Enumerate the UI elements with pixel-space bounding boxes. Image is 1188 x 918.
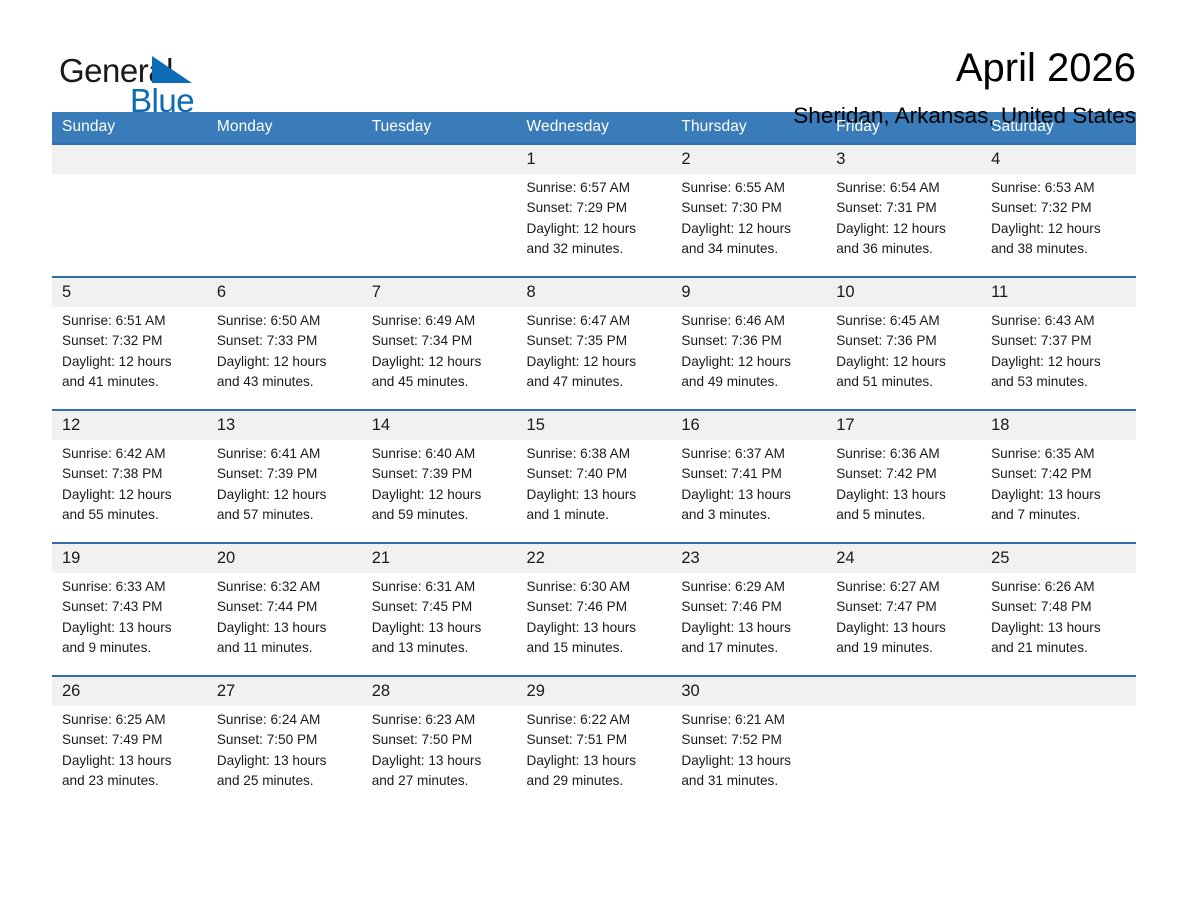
day-cell[interactable]: Sunrise: 6:47 AMSunset: 7:35 PMDaylight:… [517,307,672,410]
day-cell[interactable]: Sunrise: 6:26 AMSunset: 7:48 PMDaylight:… [981,573,1136,676]
day-cell[interactable]: Sunrise: 6:41 AMSunset: 7:39 PMDaylight:… [207,440,362,543]
day-number[interactable]: 7 [362,277,517,307]
sunrise-text: Sunrise: 6:30 AM [527,577,664,597]
daylight-text-line1: Daylight: 12 hours [681,219,818,239]
day-cell[interactable]: Sunrise: 6:45 AMSunset: 7:36 PMDaylight:… [826,307,981,410]
sunrise-text: Sunrise: 6:37 AM [681,444,818,464]
day-number[interactable]: 23 [671,543,826,573]
day-number-empty [826,676,981,706]
calendar-week-details: Sunrise: 6:33 AMSunset: 7:43 PMDaylight:… [52,573,1136,676]
daylight-text-line1: Daylight: 13 hours [681,751,818,771]
sunset-text: Sunset: 7:43 PM [62,597,199,617]
sunrise-text: Sunrise: 6:49 AM [372,311,509,331]
day-number[interactable]: 15 [517,410,672,440]
calendar-week-daynumbers: 567891011 [52,277,1136,307]
calendar-table: Sunday Monday Tuesday Wednesday Thursday… [52,112,1136,808]
daylight-text-line2: and 3 minutes. [681,505,818,525]
calendar-page: General Blue April 2026 Sheridan, Arkans… [0,0,1188,918]
day-cell[interactable]: Sunrise: 6:46 AMSunset: 7:36 PMDaylight:… [671,307,826,410]
daylight-text-line1: Daylight: 13 hours [372,618,509,638]
day-cell-empty [52,174,207,277]
sunset-text: Sunset: 7:31 PM [836,198,973,218]
daylight-text-line2: and 59 minutes. [372,505,509,525]
sunset-text: Sunset: 7:44 PM [217,597,354,617]
daylight-text-line1: Daylight: 13 hours [836,485,973,505]
daylight-text-line1: Daylight: 12 hours [217,485,354,505]
sunset-text: Sunset: 7:39 PM [372,464,509,484]
sunset-text: Sunset: 7:40 PM [527,464,664,484]
calendar-week-details: Sunrise: 6:51 AMSunset: 7:32 PMDaylight:… [52,307,1136,410]
day-cell[interactable]: Sunrise: 6:37 AMSunset: 7:41 PMDaylight:… [671,440,826,543]
sunrise-text: Sunrise: 6:41 AM [217,444,354,464]
sunset-text: Sunset: 7:42 PM [991,464,1128,484]
day-cell[interactable]: Sunrise: 6:25 AMSunset: 7:49 PMDaylight:… [52,706,207,808]
daylight-text-line2: and 11 minutes. [217,638,354,658]
sunrise-text: Sunrise: 6:24 AM [217,710,354,730]
daylight-text-line1: Daylight: 12 hours [372,485,509,505]
day-cell[interactable]: Sunrise: 6:43 AMSunset: 7:37 PMDaylight:… [981,307,1136,410]
sunset-text: Sunset: 7:42 PM [836,464,973,484]
day-number[interactable]: 25 [981,543,1136,573]
daylight-text-line1: Daylight: 13 hours [527,618,664,638]
day-number[interactable]: 21 [362,543,517,573]
day-number[interactable]: 14 [362,410,517,440]
sunset-text: Sunset: 7:51 PM [527,730,664,750]
sunset-text: Sunset: 7:41 PM [681,464,818,484]
daylight-text-line2: and 31 minutes. [681,771,818,791]
sunrise-text: Sunrise: 6:31 AM [372,577,509,597]
page-title: April 2026 [793,46,1136,91]
sunrise-text: Sunrise: 6:42 AM [62,444,199,464]
day-cell[interactable]: Sunrise: 6:23 AMSunset: 7:50 PMDaylight:… [362,706,517,808]
day-number-empty [52,144,207,174]
sunrise-text: Sunrise: 6:47 AM [527,311,664,331]
daylight-text-line1: Daylight: 13 hours [527,485,664,505]
day-cell[interactable]: Sunrise: 6:36 AMSunset: 7:42 PMDaylight:… [826,440,981,543]
day-cell[interactable]: Sunrise: 6:35 AMSunset: 7:42 PMDaylight:… [981,440,1136,543]
day-cell[interactable]: Sunrise: 6:40 AMSunset: 7:39 PMDaylight:… [362,440,517,543]
daylight-text-line1: Daylight: 12 hours [217,352,354,372]
day-number[interactable]: 5 [52,277,207,307]
day-cell-empty [207,174,362,277]
daylight-text-line1: Daylight: 12 hours [62,485,199,505]
weekday-header-wednesday: Wednesday [517,112,672,144]
daylight-text-line2: and 7 minutes. [991,505,1128,525]
sunrise-text: Sunrise: 6:36 AM [836,444,973,464]
day-cell[interactable]: Sunrise: 6:32 AMSunset: 7:44 PMDaylight:… [207,573,362,676]
day-cell[interactable]: Sunrise: 6:49 AMSunset: 7:34 PMDaylight:… [362,307,517,410]
daylight-text-line1: Daylight: 13 hours [527,751,664,771]
day-cell[interactable]: Sunrise: 6:24 AMSunset: 7:50 PMDaylight:… [207,706,362,808]
sunset-text: Sunset: 7:36 PM [681,331,818,351]
sunrise-text: Sunrise: 6:33 AM [62,577,199,597]
sunset-text: Sunset: 7:33 PM [217,331,354,351]
day-cell[interactable]: Sunrise: 6:30 AMSunset: 7:46 PMDaylight:… [517,573,672,676]
day-number[interactable]: 9 [671,277,826,307]
day-cell[interactable]: Sunrise: 6:50 AMSunset: 7:33 PMDaylight:… [207,307,362,410]
sunrise-text: Sunrise: 6:38 AM [527,444,664,464]
sunset-text: Sunset: 7:50 PM [217,730,354,750]
day-cell[interactable]: Sunrise: 6:29 AMSunset: 7:46 PMDaylight:… [671,573,826,676]
daylight-text-line2: and 43 minutes. [217,372,354,392]
sunrise-text: Sunrise: 6:29 AM [681,577,818,597]
day-number[interactable]: 20 [207,543,362,573]
day-cell[interactable]: Sunrise: 6:53 AMSunset: 7:32 PMDaylight:… [981,174,1136,277]
calendar-week-daynumbers: 1234 [52,144,1136,174]
daylight-text-line2: and 9 minutes. [62,638,199,658]
sunset-text: Sunset: 7:39 PM [217,464,354,484]
day-number-empty [207,144,362,174]
daylight-text-line2: and 19 minutes. [836,638,973,658]
daylight-text-line1: Daylight: 13 hours [217,618,354,638]
sunset-text: Sunset: 7:38 PM [62,464,199,484]
sunset-text: Sunset: 7:36 PM [836,331,973,351]
daylight-text-line2: and 23 minutes. [62,771,199,791]
calendar-week-daynumbers: 2627282930 [52,676,1136,706]
day-number[interactable]: 13 [207,410,362,440]
sunset-text: Sunset: 7:46 PM [681,597,818,617]
sunrise-text: Sunrise: 6:25 AM [62,710,199,730]
daylight-text-line2: and 5 minutes. [836,505,973,525]
calendar-body: 1234Sunrise: 6:57 AMSunset: 7:29 PMDayli… [52,144,1136,808]
day-number[interactable]: 29 [517,676,672,706]
sunrise-text: Sunrise: 6:45 AM [836,311,973,331]
sunset-text: Sunset: 7:34 PM [372,331,509,351]
daylight-text-line1: Daylight: 13 hours [681,618,818,638]
daylight-text-line2: and 57 minutes. [217,505,354,525]
sunrise-text: Sunrise: 6:22 AM [527,710,664,730]
daylight-text-line1: Daylight: 12 hours [836,219,973,239]
calendar-week-details: Sunrise: 6:57 AMSunset: 7:29 PMDaylight:… [52,174,1136,277]
day-cell[interactable]: Sunrise: 6:27 AMSunset: 7:47 PMDaylight:… [826,573,981,676]
calendar-week-details: Sunrise: 6:25 AMSunset: 7:49 PMDaylight:… [52,706,1136,808]
daylight-text-line2: and 34 minutes. [681,239,818,259]
daylight-text-line2: and 51 minutes. [836,372,973,392]
day-number[interactable]: 18 [981,410,1136,440]
day-number[interactable]: 22 [517,543,672,573]
sunrise-text: Sunrise: 6:57 AM [527,178,664,198]
day-cell-empty [826,706,981,808]
sunrise-text: Sunrise: 6:40 AM [372,444,509,464]
day-cell[interactable]: Sunrise: 6:38 AMSunset: 7:40 PMDaylight:… [517,440,672,543]
day-cell-empty [362,174,517,277]
sunrise-text: Sunrise: 6:32 AM [217,577,354,597]
day-number-empty [981,676,1136,706]
day-number-empty [362,144,517,174]
daylight-text-line2: and 27 minutes. [372,771,509,791]
sunset-text: Sunset: 7:45 PM [372,597,509,617]
day-number[interactable]: 4 [981,144,1136,174]
day-cell-empty [981,706,1136,808]
daylight-text-line1: Daylight: 12 hours [681,352,818,372]
day-cell[interactable]: Sunrise: 6:42 AMSunset: 7:38 PMDaylight:… [52,440,207,543]
day-number[interactable]: 11 [981,277,1136,307]
daylight-text-line1: Daylight: 12 hours [372,352,509,372]
day-number[interactable]: 16 [671,410,826,440]
day-number[interactable]: 1 [517,144,672,174]
daylight-text-line2: and 36 minutes. [836,239,973,259]
daylight-text-line1: Daylight: 12 hours [527,352,664,372]
day-number[interactable]: 26 [52,676,207,706]
calendar-week-daynumbers: 19202122232425 [52,543,1136,573]
day-number[interactable]: 30 [671,676,826,706]
day-number[interactable]: 10 [826,277,981,307]
daylight-text-line2: and 53 minutes. [991,372,1128,392]
day-cell[interactable]: Sunrise: 6:55 AMSunset: 7:30 PMDaylight:… [671,174,826,277]
daylight-text-line2: and 41 minutes. [62,372,199,392]
sunrise-text: Sunrise: 6:35 AM [991,444,1128,464]
calendar-week-details: Sunrise: 6:42 AMSunset: 7:38 PMDaylight:… [52,440,1136,543]
sunset-text: Sunset: 7:29 PM [527,198,664,218]
daylight-text-line1: Daylight: 13 hours [991,618,1128,638]
daylight-text-line1: Daylight: 12 hours [991,219,1128,239]
day-number[interactable]: 8 [517,277,672,307]
daylight-text-line2: and 17 minutes. [681,638,818,658]
daylight-text-line2: and 21 minutes. [991,638,1128,658]
daylight-text-line2: and 1 minute. [527,505,664,525]
day-cell[interactable]: Sunrise: 6:31 AMSunset: 7:45 PMDaylight:… [362,573,517,676]
daylight-text-line2: and 47 minutes. [527,372,664,392]
day-cell[interactable]: Sunrise: 6:54 AMSunset: 7:31 PMDaylight:… [826,174,981,277]
day-number[interactable]: 17 [826,410,981,440]
calendar-week-daynumbers: 12131415161718 [52,410,1136,440]
daylight-text-line1: Daylight: 13 hours [836,618,973,638]
daylight-text-line2: and 13 minutes. [372,638,509,658]
daylight-text-line1: Daylight: 13 hours [217,751,354,771]
day-number[interactable]: 6 [207,277,362,307]
daylight-text-line2: and 29 minutes. [527,771,664,791]
sunset-text: Sunset: 7:52 PM [681,730,818,750]
daylight-text-line2: and 15 minutes. [527,638,664,658]
sunset-text: Sunset: 7:35 PM [527,331,664,351]
daylight-text-line2: and 45 minutes. [372,372,509,392]
sunset-text: Sunset: 7:49 PM [62,730,199,750]
sunrise-text: Sunrise: 6:43 AM [991,311,1128,331]
daylight-text-line1: Daylight: 13 hours [681,485,818,505]
daylight-text-line1: Daylight: 12 hours [62,352,199,372]
day-cell[interactable]: Sunrise: 6:33 AMSunset: 7:43 PMDaylight:… [52,573,207,676]
logo-text-blue: Blue [130,84,194,117]
daylight-text-line2: and 25 minutes. [217,771,354,791]
sunrise-text: Sunrise: 6:54 AM [836,178,973,198]
sunrise-text: Sunrise: 6:50 AM [217,311,354,331]
day-number[interactable]: 19 [52,543,207,573]
sunrise-text: Sunrise: 6:21 AM [681,710,818,730]
page-header: General Blue April 2026 Sheridan, Arkans… [52,0,1136,96]
sunrise-text: Sunrise: 6:55 AM [681,178,818,198]
sunset-text: Sunset: 7:50 PM [372,730,509,750]
daylight-text-line1: Daylight: 12 hours [836,352,973,372]
sunset-text: Sunset: 7:37 PM [991,331,1128,351]
day-cell[interactable]: Sunrise: 6:57 AMSunset: 7:29 PMDaylight:… [517,174,672,277]
sunset-text: Sunset: 7:32 PM [62,331,199,351]
sunrise-text: Sunrise: 6:46 AM [681,311,818,331]
day-cell[interactable]: Sunrise: 6:22 AMSunset: 7:51 PMDaylight:… [517,706,672,808]
weekday-header-monday: Monday [207,112,362,144]
sunset-text: Sunset: 7:46 PM [527,597,664,617]
daylight-text-line1: Daylight: 13 hours [372,751,509,771]
day-number[interactable]: 3 [826,144,981,174]
daylight-text-line1: Daylight: 12 hours [527,219,664,239]
sunset-text: Sunset: 7:30 PM [681,198,818,218]
logo-triangle-icon [152,56,192,83]
sunrise-text: Sunrise: 6:26 AM [991,577,1128,597]
day-cell[interactable]: Sunrise: 6:51 AMSunset: 7:32 PMDaylight:… [52,307,207,410]
sunrise-text: Sunrise: 6:23 AM [372,710,509,730]
sunrise-text: Sunrise: 6:53 AM [991,178,1128,198]
day-number[interactable]: 2 [671,144,826,174]
day-number[interactable]: 28 [362,676,517,706]
daylight-text-line1: Daylight: 13 hours [62,618,199,638]
generalblue-logo[interactable]: General Blue [52,44,242,116]
daylight-text-line2: and 38 minutes. [991,239,1128,259]
sunrise-text: Sunrise: 6:51 AM [62,311,199,331]
daylight-text-line1: Daylight: 13 hours [62,751,199,771]
day-number[interactable]: 27 [207,676,362,706]
daylight-text-line2: and 55 minutes. [62,505,199,525]
sunrise-text: Sunrise: 6:27 AM [836,577,973,597]
day-number[interactable]: 24 [826,543,981,573]
sunset-text: Sunset: 7:48 PM [991,597,1128,617]
daylight-text-line2: and 32 minutes. [527,239,664,259]
daylight-text-line1: Daylight: 12 hours [991,352,1128,372]
weekday-header-tuesday: Tuesday [362,112,517,144]
title-block: April 2026 Sheridan, Arkansas, United St… [793,44,1136,129]
sunset-text: Sunset: 7:32 PM [991,198,1128,218]
daylight-text-line2: and 49 minutes. [681,372,818,392]
day-cell[interactable]: Sunrise: 6:21 AMSunset: 7:52 PMDaylight:… [671,706,826,808]
sunset-text: Sunset: 7:47 PM [836,597,973,617]
daylight-text-line1: Daylight: 13 hours [991,485,1128,505]
day-number[interactable]: 12 [52,410,207,440]
